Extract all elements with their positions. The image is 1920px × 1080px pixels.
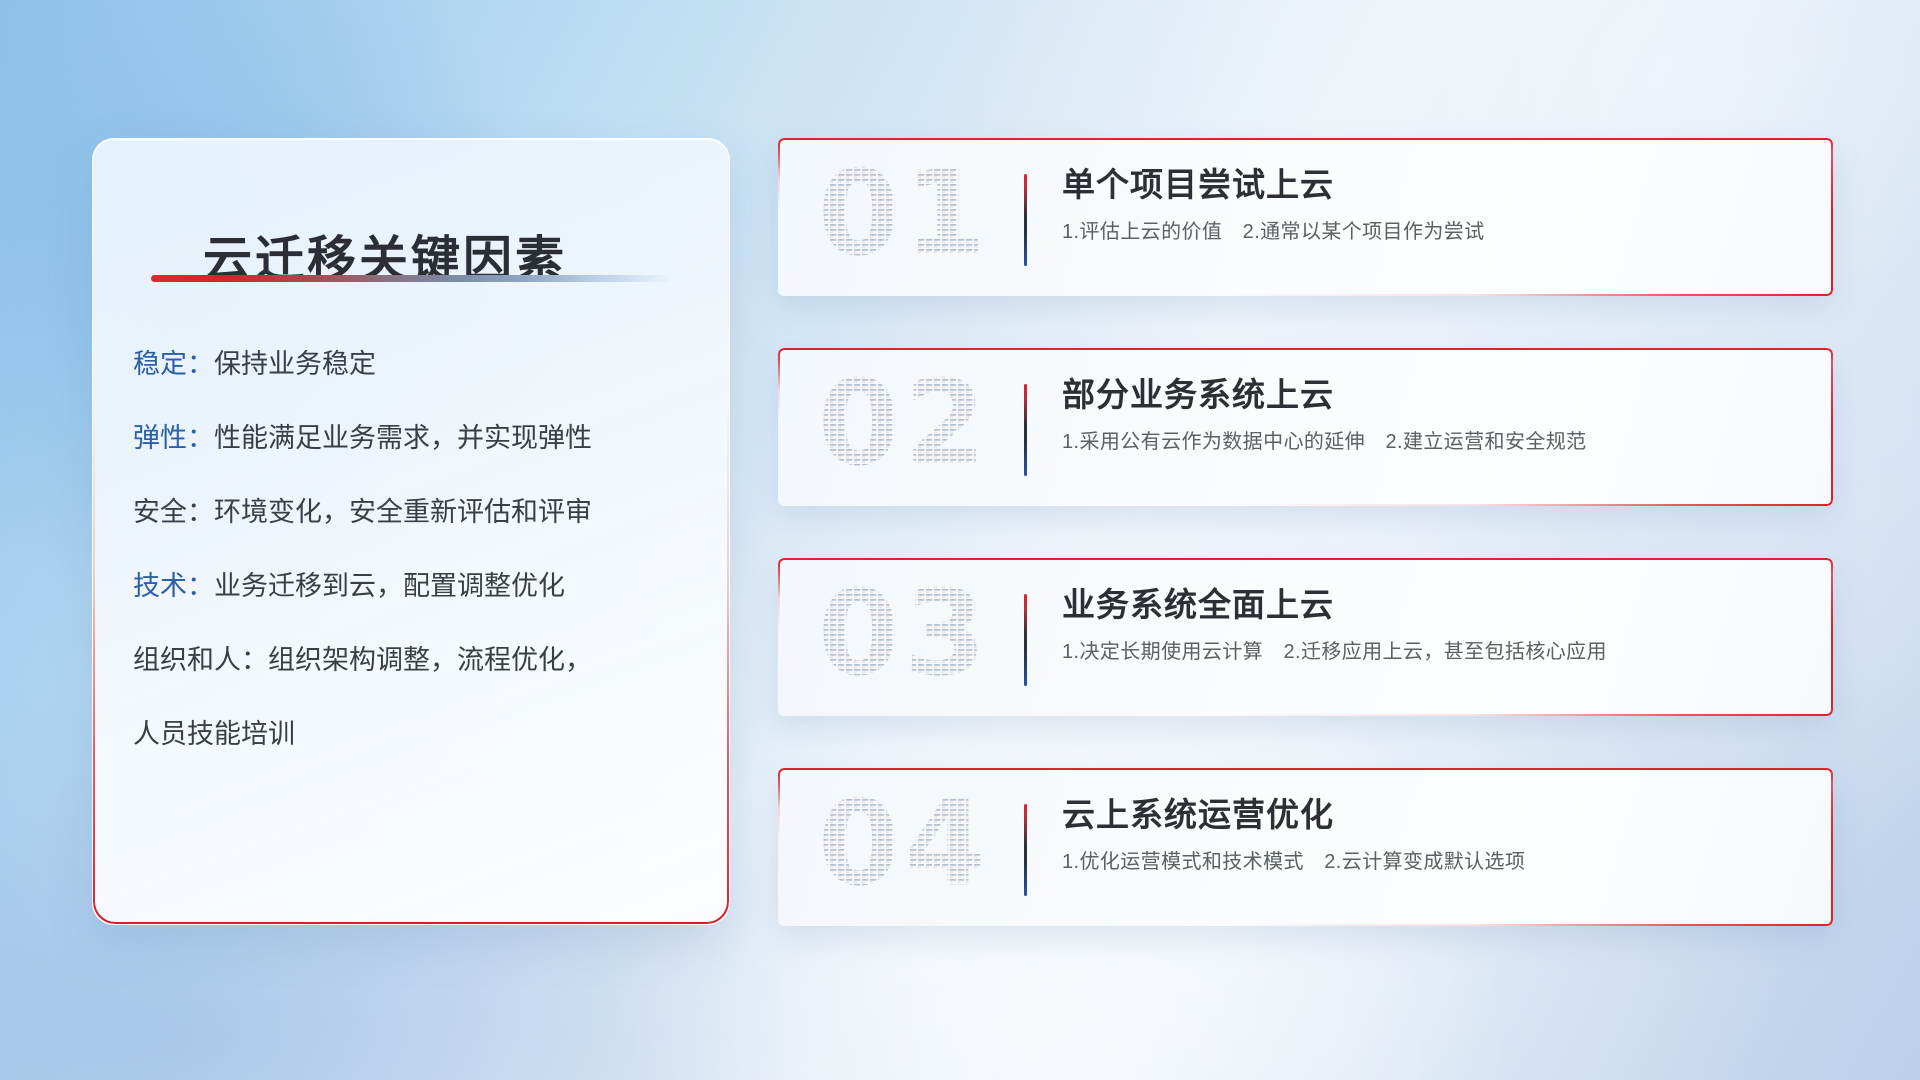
- card-divider-bar: [1024, 174, 1027, 266]
- card-description: 1.优化运营模式和技术模式 2.云计算变成默认选项: [1062, 849, 1809, 875]
- card-body: 部分业务系统上云1.采用公有云作为数据中心的延伸 2.建立运营和安全规范: [1062, 374, 1809, 455]
- card-body: 业务系统全面上云1.决定长期使用云计算 2.迁移应用上云，甚至包括核心应用: [1062, 584, 1809, 665]
- stage-number-watermark: 02: [806, 364, 1002, 492]
- card-divider-bar: [1024, 594, 1027, 686]
- factor-label: 弹性：: [133, 423, 214, 453]
- svg-text:01: 01: [818, 154, 990, 282]
- card-body: 单个项目尝试上云1.评估上云的价值 2.通常以某个项目作为尝试: [1062, 164, 1809, 245]
- migration-stage-card[interactable]: 01单个项目尝试上云1.评估上云的价值 2.通常以某个项目作为尝试: [778, 138, 1833, 296]
- factor-text: 组织架构调整，流程优化，: [268, 645, 592, 675]
- factor-text: 人员技能培训: [133, 719, 295, 749]
- migration-stage-card[interactable]: 02部分业务系统上云1.采用公有云作为数据中心的延伸 2.建立运营和安全规范: [778, 348, 1833, 506]
- card-title: 部分业务系统上云: [1062, 374, 1809, 415]
- factor-row: 弹性：性能满足业务需求，并实现弹性: [133, 425, 705, 452]
- factor-row: 稳定：保持业务稳定: [133, 351, 705, 378]
- card-description: 1.采用公有云作为数据中心的延伸 2.建立运营和安全规范: [1062, 429, 1809, 455]
- stage-number-watermark: 01: [806, 154, 1002, 282]
- card-divider-bar: [1024, 384, 1027, 476]
- card-description: 1.评估上云的价值 2.通常以某个项目作为尝试: [1062, 219, 1809, 245]
- factor-label: 组织和人：: [133, 645, 268, 675]
- factor-list: 稳定：保持业务稳定弹性：性能满足业务需求，并实现弹性安全：环境变化，安全重新评估…: [133, 351, 705, 748]
- card-title: 云上系统运营优化: [1062, 794, 1809, 835]
- title-underline-rule: [151, 275, 671, 282]
- stage-number-watermark: 03: [806, 574, 1002, 702]
- factor-row: 技术：业务迁移到云，配置调整优化: [133, 573, 705, 600]
- stage-number-watermark: 04: [806, 784, 1002, 912]
- card-title: 单个项目尝试上云: [1062, 164, 1809, 205]
- svg-text:03: 03: [818, 574, 990, 702]
- factor-label: 安全：: [133, 497, 214, 527]
- card-description: 1.决定长期使用云计算 2.迁移应用上云，甚至包括核心应用: [1062, 639, 1809, 665]
- migration-stage-card[interactable]: 03业务系统全面上云1.决定长期使用云计算 2.迁移应用上云，甚至包括核心应用: [778, 558, 1833, 716]
- svg-text:04: 04: [818, 784, 990, 912]
- card-divider-bar: [1024, 804, 1027, 896]
- factor-row: 人员技能培训: [133, 721, 705, 748]
- card-title: 业务系统全面上云: [1062, 584, 1809, 625]
- migration-stage-card[interactable]: 04云上系统运营优化1.优化运营模式和技术模式 2.云计算变成默认选项: [778, 768, 1833, 926]
- factor-label: 稳定：: [133, 349, 214, 379]
- factor-text: 保持业务稳定: [214, 349, 376, 379]
- factor-label: 技术：: [133, 571, 214, 601]
- svg-text:02: 02: [818, 364, 990, 492]
- key-factors-panel: 云迁移关键因素 稳定：保持业务稳定弹性：性能满足业务需求，并实现弹性安全：环境变…: [92, 138, 730, 925]
- card-body: 云上系统运营优化1.优化运营模式和技术模式 2.云计算变成默认选项: [1062, 794, 1809, 875]
- factor-text: 性能满足业务需求，并实现弹性: [214, 423, 592, 453]
- factor-row: 组织和人：组织架构调整，流程优化，: [133, 647, 705, 674]
- factor-row: 安全：环境变化，安全重新评估和评审: [133, 499, 705, 526]
- migration-stage-card-list: 01单个项目尝试上云1.评估上云的价值 2.通常以某个项目作为尝试02部分业务系…: [778, 138, 1833, 926]
- slide-canvas: 云迁移关键因素 稳定：保持业务稳定弹性：性能满足业务需求，并实现弹性安全：环境变…: [0, 0, 1920, 1080]
- factor-text: 业务迁移到云，配置调整优化: [214, 571, 565, 601]
- factor-text: 环境变化，安全重新评估和评审: [214, 497, 592, 527]
